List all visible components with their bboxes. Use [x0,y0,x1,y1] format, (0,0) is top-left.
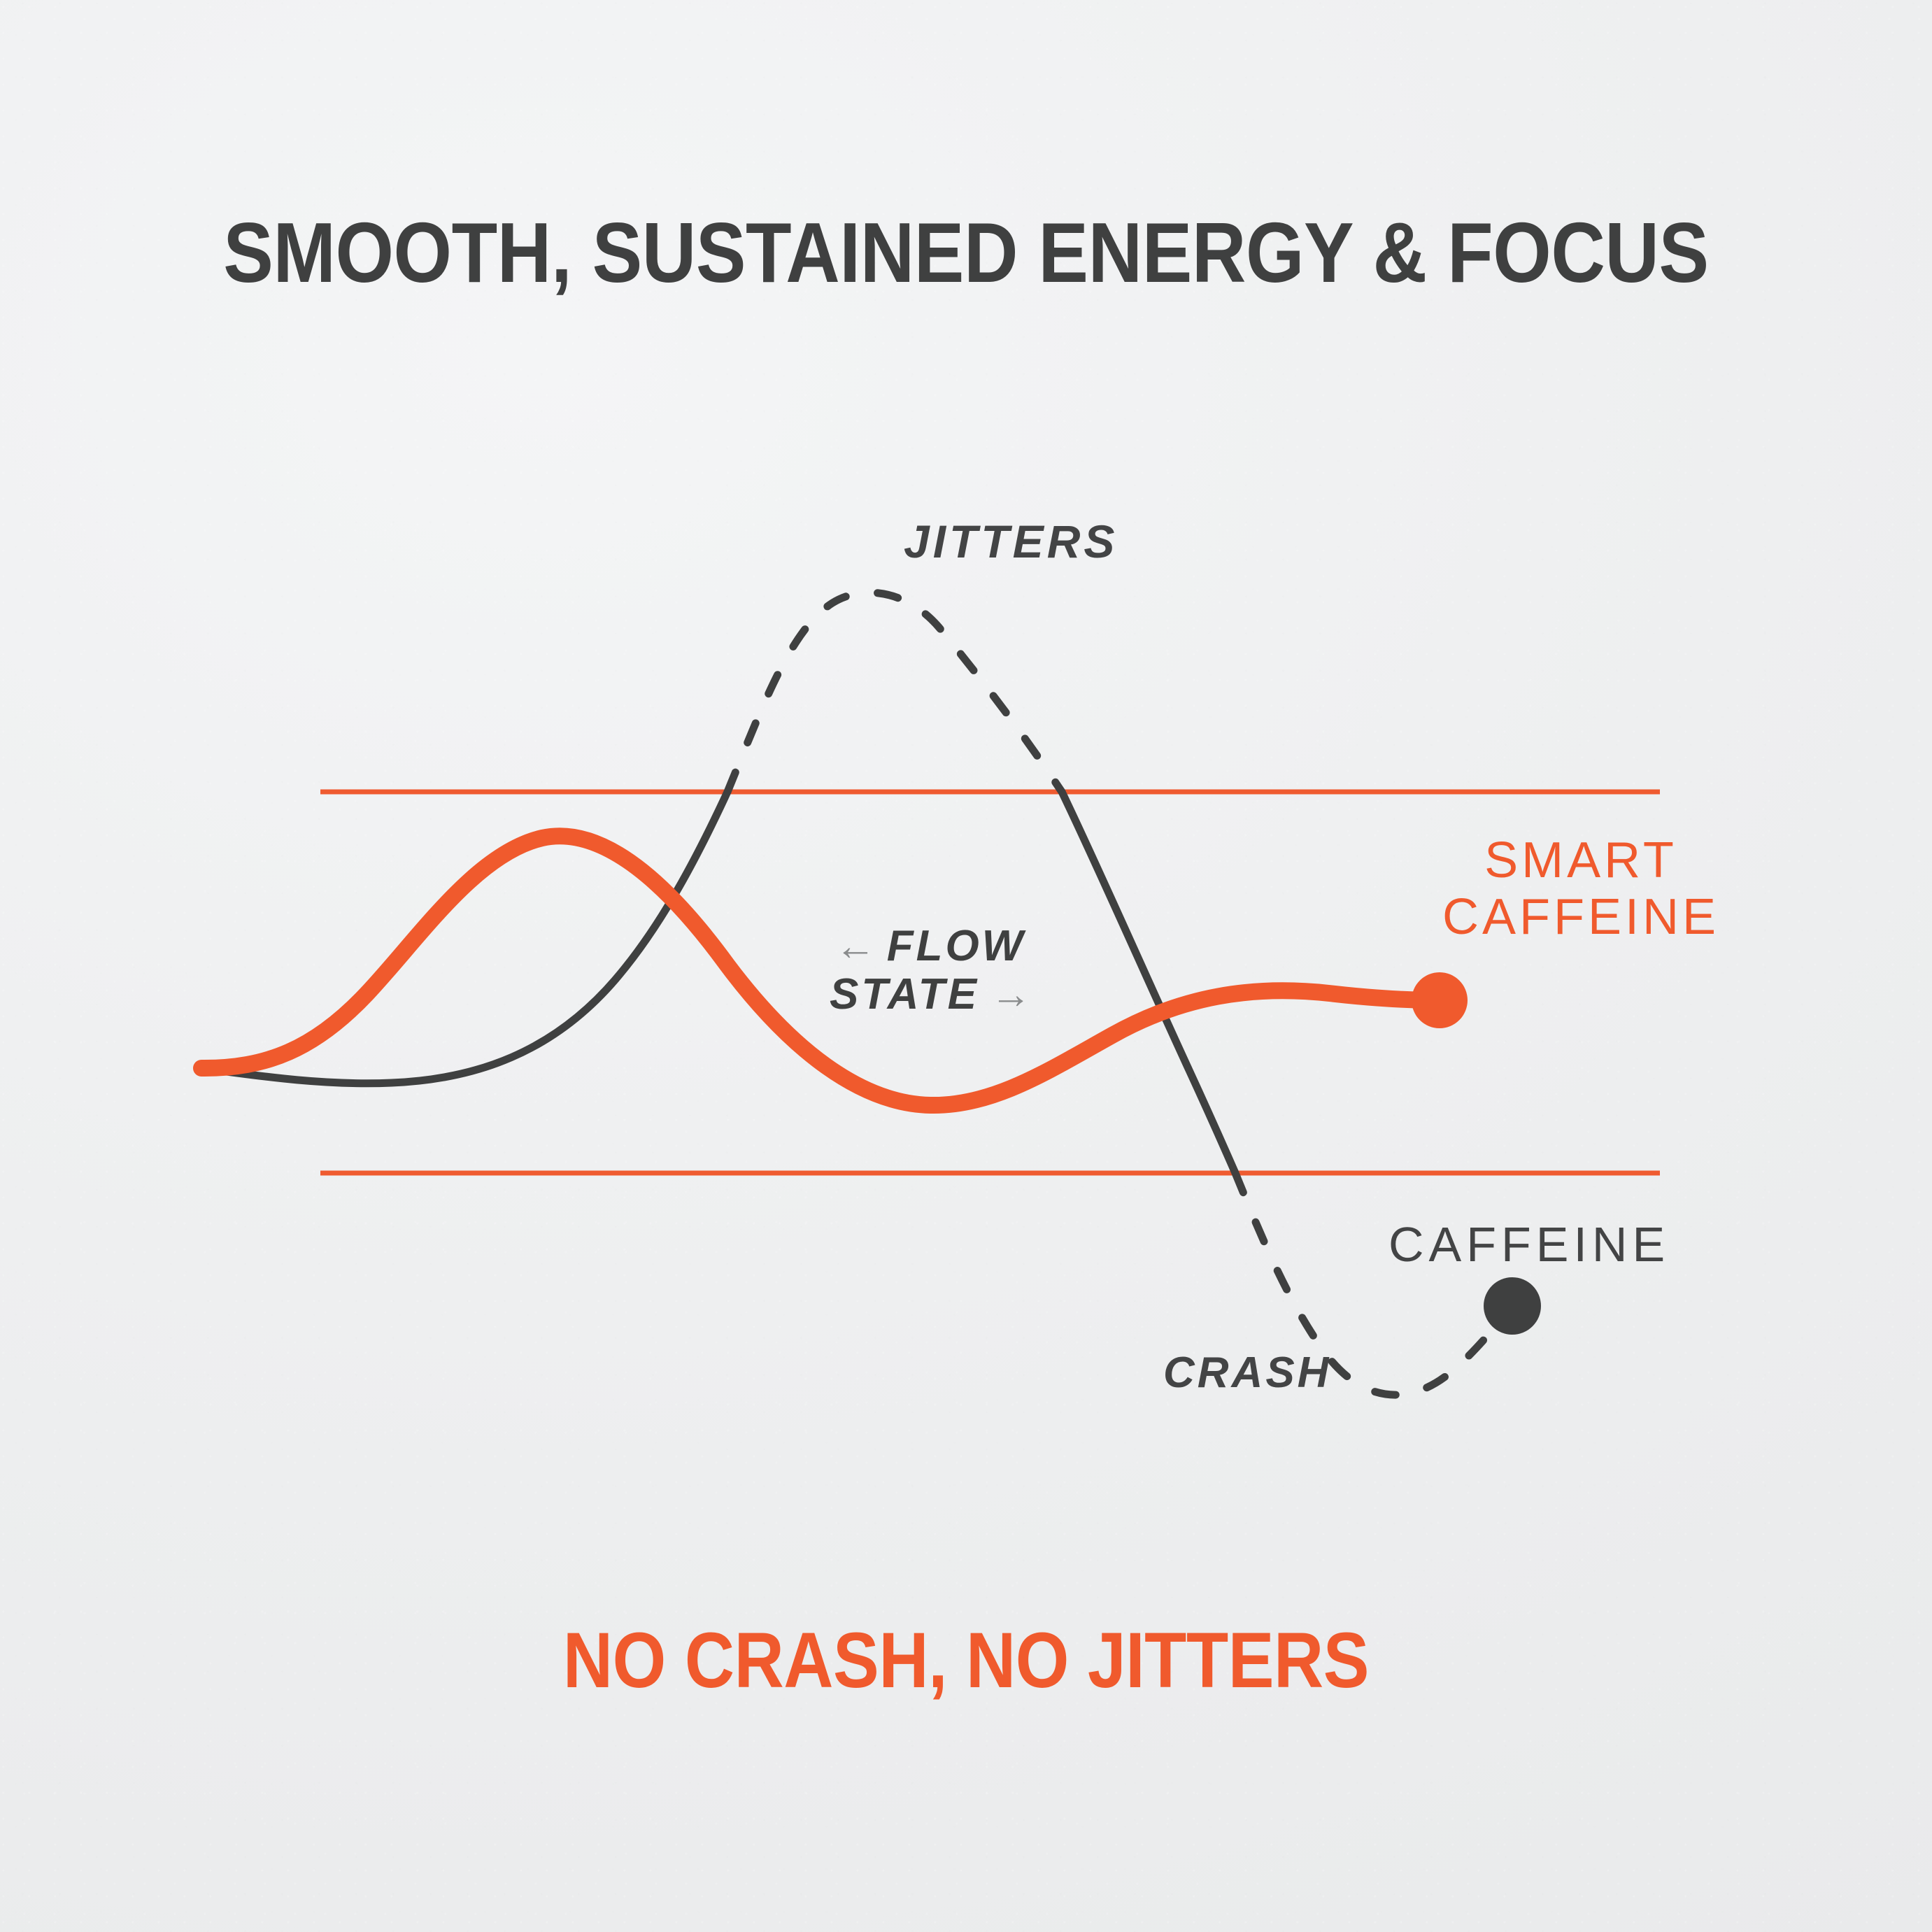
infographic-canvas: SMOOTH, SUSTAINED ENERGY & FOCUS JITTERS… [0,0,1932,1932]
jitters-label: JITTERS [904,516,1118,568]
smart-caffeine-label-line-1: SMART [1413,832,1749,889]
caffeine-curve-solid-plunge [1062,792,1235,1173]
arrow-right-icon: → [990,974,1031,1015]
flow-state-word-state: STATE [830,970,979,1018]
flow-state-line-2: STATE → [830,970,1031,1018]
flow-state-word-flow: FLOW [887,922,1026,970]
page-tagline: NO CRASH, NO JITTERS [116,1621,1817,1700]
caffeine-curve-dashed-jitters [727,592,1062,792]
caffeine-endpoint-dot [1484,1277,1541,1335]
flow-state-label: ← FLOW STATE → [830,922,1031,1019]
smart-caffeine-label-line-2: CAFFEINE [1413,889,1749,946]
smart-caffeine-endpoint-dot [1412,972,1468,1028]
smart-caffeine-curve [201,836,1440,1105]
crash-label: CRASH [1163,1349,1331,1397]
flow-state-line-1: ← FLOW [830,922,1031,970]
caffeine-curve-solid-rise [201,792,727,1084]
arrow-left-icon: ← [835,926,876,967]
smart-caffeine-label: SMART CAFFEINE [1413,832,1749,945]
caffeine-label: CAFFEINE [1388,1217,1670,1272]
